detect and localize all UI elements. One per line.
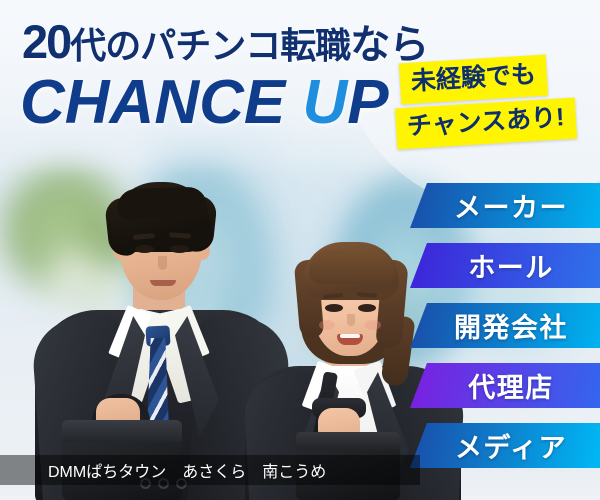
category-button-agency[interactable]: 代理店	[410, 363, 600, 408]
headline-text: 20代のパチンコ転職なら	[22, 18, 428, 65]
category-label-media: メディア	[443, 426, 567, 465]
advertisement-banner[interactable]: 20代のパチンコ転職なら CHANCE UP 未経験でも チャンスあり! メーカ…	[0, 0, 600, 500]
category-button-developer[interactable]: 開発会社	[410, 303, 600, 348]
logo-accent-p: P	[347, 68, 388, 137]
category-button-media[interactable]: メディア	[410, 423, 600, 468]
category-label-maker: メーカー	[442, 186, 568, 225]
category-label-hall: ホール	[456, 246, 554, 285]
category-button-hall[interactable]: ホール	[410, 243, 600, 288]
headline-rest: 代のパチンコ転職	[70, 25, 350, 66]
caption-bar: DMMぱちタウン あさくら 南こうめ	[0, 455, 420, 485]
caption-text: DMMぱちタウン あさくら 南こうめ	[0, 458, 326, 482]
category-button-maker[interactable]: メーカー	[410, 183, 600, 228]
headline-number: 20	[22, 15, 70, 68]
logo-accent-u: U	[302, 72, 347, 134]
category-label-agency: 代理店	[456, 366, 554, 405]
category-label-developer: 開発会社	[442, 306, 568, 345]
logo-chance-up: CHANCE UP	[20, 72, 389, 134]
category-button-list[interactable]: メーカー ホール 開発会社 代理店 メディア	[410, 183, 600, 483]
headline-tail: なら	[350, 23, 428, 67]
logo-main-text: CHANCE	[20, 68, 285, 137]
